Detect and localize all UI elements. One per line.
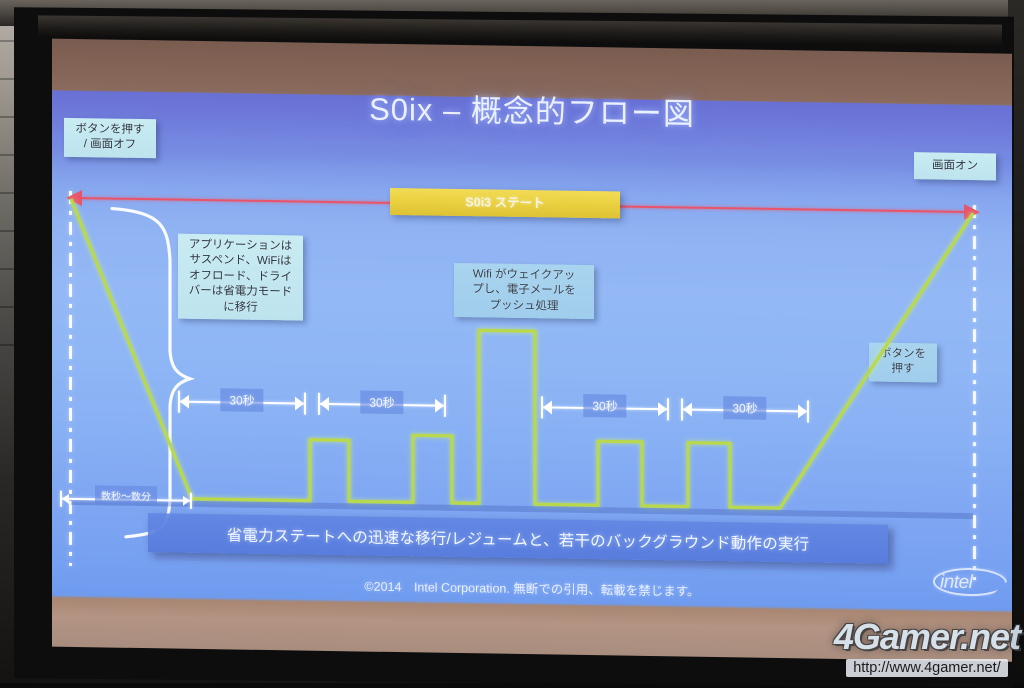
dimension-30s-2-label: 30秒 xyxy=(360,390,403,414)
dimension-ramp-duration-label: 数秒～数分 xyxy=(95,485,157,505)
presentation-slide: S0ix – 概念的フロー図 S0i3 ステート ボタンを押す / 画面オフ 画… xyxy=(52,39,1012,662)
intel-logo: intel xyxy=(940,572,972,595)
dimension-30s-3: 30秒 xyxy=(541,393,669,423)
projection-screen-bezel: S0ix – 概念的フロー図 S0i3 ステート ボタンを押す / 画面オフ 画… xyxy=(14,7,1014,688)
watermark: 4Gamer.net http://www.4gamer.net/ xyxy=(834,616,1020,677)
dimension-30s-1: 30秒 xyxy=(178,388,306,418)
dimension-30s-4-label: 30秒 xyxy=(723,396,766,420)
watermark-url: http://www.4gamer.net/ xyxy=(846,659,1008,677)
dimension-ramp-duration: 数秒～数分 xyxy=(60,485,192,515)
dimension-30s-4: 30秒 xyxy=(681,396,809,426)
dimension-30s-1-label: 30秒 xyxy=(220,388,263,412)
dimension-30s-3-label: 30秒 xyxy=(583,394,626,418)
watermark-url-wrap: http://www.4gamer.net/ xyxy=(834,658,1020,677)
watermark-logo: 4Gamer.net xyxy=(834,616,1020,658)
summary-banner-text: 省電力ステートへの迅速な移行/レジュームと、若干のバックグラウンド動作の実行 xyxy=(227,523,810,554)
dimension-30s-2: 30秒 xyxy=(318,390,446,420)
